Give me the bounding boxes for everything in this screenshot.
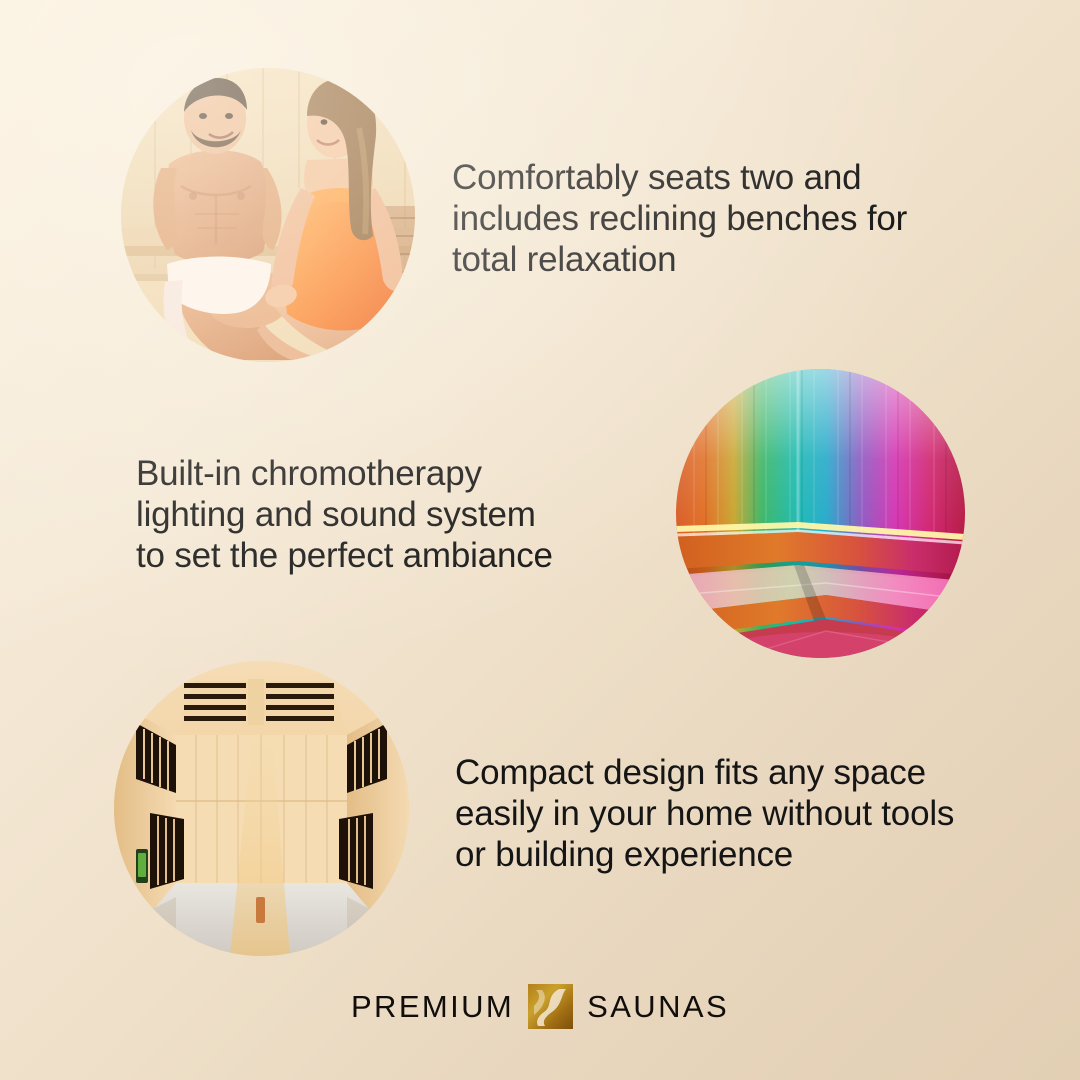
chromotherapy-lighting-photo [676,369,965,658]
feature-1-text: Comfortably seats two and includes recli… [452,157,952,280]
premium-saunas-s-monogram [528,984,573,1029]
sauna-interior-photo [114,661,409,956]
feature-3-text: Compact design fits any space easily in … [455,752,985,875]
infographic-canvas: Comfortably seats two and includes recli… [0,0,1080,1080]
brand-logo: PREMIUM SAUNAS [0,984,1080,1029]
feature-2-text: Built-in chromotherapy lighting and soun… [136,453,606,576]
brand-word-saunas: SAUNAS [587,989,729,1025]
couple-in-sauna-photo [121,68,415,362]
brand-word-premium: PREMIUM [351,989,514,1025]
